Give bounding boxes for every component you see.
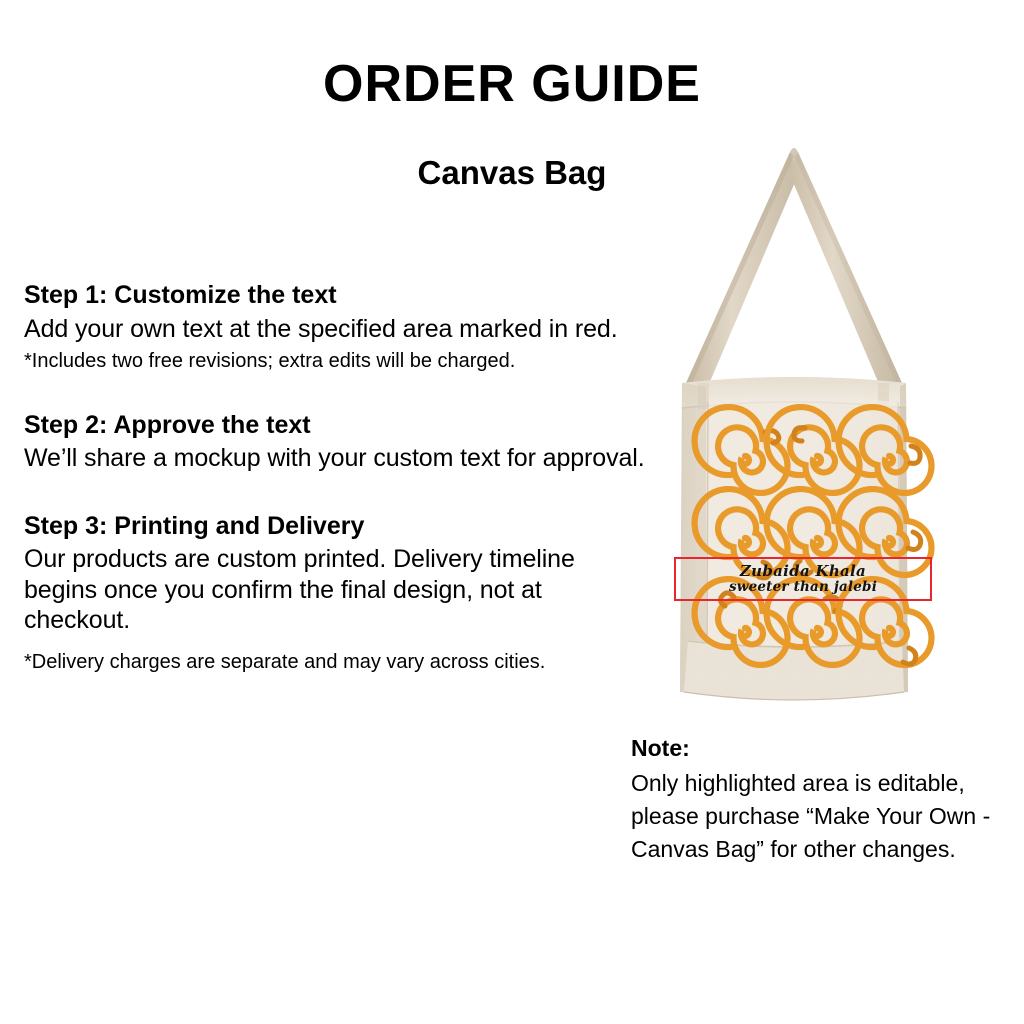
step-1-heading: Step 1: Customize the text bbox=[24, 281, 652, 311]
step-2: Step 2: Approve the text We’ll share a m… bbox=[24, 411, 652, 474]
step-1-footnote: *Includes two free revisions; extra edit… bbox=[24, 349, 652, 375]
step-1-body: Add your own text at the specified area … bbox=[24, 314, 652, 345]
bag-printed-text-line2: sweeter than jalebi bbox=[729, 580, 877, 595]
page-title: ORDER GUIDE bbox=[0, 56, 1024, 113]
step-3: Step 3: Printing and Delivery Our produc… bbox=[24, 512, 652, 676]
step-3-footnote: *Delivery charges are separate and may v… bbox=[24, 650, 652, 676]
note-block: Note: Only highlighted area is editable,… bbox=[631, 735, 1011, 867]
steps-list: Step 1: Customize the text Add your own … bbox=[24, 281, 652, 675]
step-2-body: We’ll share a mockup with your custom te… bbox=[24, 443, 652, 474]
step-3-body: Our products are custom printed. Deliver… bbox=[24, 544, 652, 636]
bag-printed-text: Zubaida Khala sweeter than jalebi bbox=[674, 558, 932, 600]
product-image-canvas-bag bbox=[650, 140, 980, 720]
note-body: Only highlighted area is editable, pleas… bbox=[631, 767, 1011, 867]
bag-handle-icon bbox=[686, 148, 902, 391]
step-1: Step 1: Customize the text Add your own … bbox=[24, 281, 652, 375]
step-3-heading: Step 3: Printing and Delivery bbox=[24, 512, 652, 542]
bag-printed-text-line1: Zubaida Khala bbox=[740, 563, 866, 580]
step-2-heading: Step 2: Approve the text bbox=[24, 411, 652, 441]
canvas-bag-illustration bbox=[650, 140, 980, 720]
order-guide-page: ORDER GUIDE Canvas Bag Step 1: Customize… bbox=[0, 0, 1024, 1024]
note-heading: Note: bbox=[631, 735, 1011, 763]
